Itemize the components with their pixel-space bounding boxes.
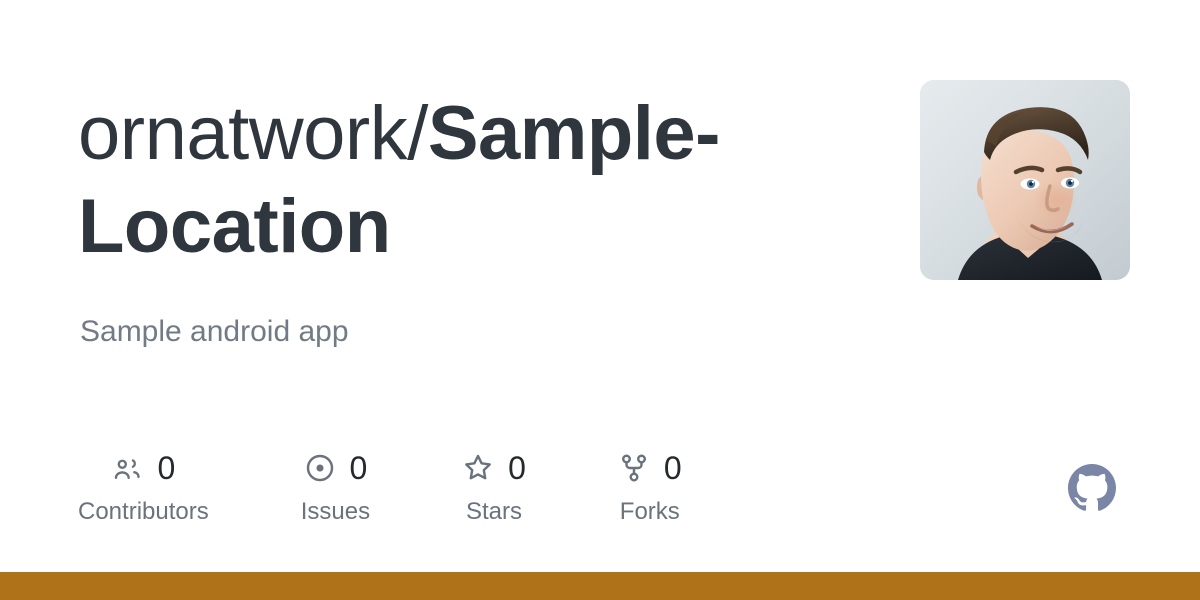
stat-stars: 0 Stars [462,448,526,524]
stat-stars-top: 0 [462,448,526,488]
stat-forks: 0 Forks [618,448,682,524]
stat-stars-label: Stars [466,500,522,524]
repository-owner: ornatwork/ [78,91,428,176]
avatar [920,80,1130,280]
github-mark-icon [1068,464,1116,512]
stat-forks-count: 0 [664,452,682,484]
stat-issues-label: Issues [301,500,370,524]
issue-opened-icon [304,452,336,484]
language-color-bar [0,572,1200,600]
people-icon [111,452,143,484]
stat-contributors-count: 0 [157,452,175,484]
stat-issues: 0 Issues [301,448,370,524]
repository-stats: 0 Contributors 0 Issues [78,448,682,524]
owner-avatar-photo-icon [920,80,1130,280]
page-title: ornatwork/Sample-Location [78,88,868,273]
stat-forks-label: Forks [620,500,680,524]
github-mark [1068,464,1116,512]
github-repository-social-preview-card: ornatwork/Sample-Location Sample android… [0,0,1200,600]
star-icon [462,452,494,484]
stat-contributors: 0 Contributors [78,448,209,524]
repository-description: Sample android app [80,312,880,351]
stat-issues-top: 0 [304,448,368,488]
repo-forked-icon [618,452,650,484]
stat-contributors-top: 0 [111,448,175,488]
stat-forks-top: 0 [618,448,682,488]
stat-stars-count: 0 [508,452,526,484]
stat-issues-count: 0 [350,452,368,484]
stat-contributors-label: Contributors [78,500,209,524]
